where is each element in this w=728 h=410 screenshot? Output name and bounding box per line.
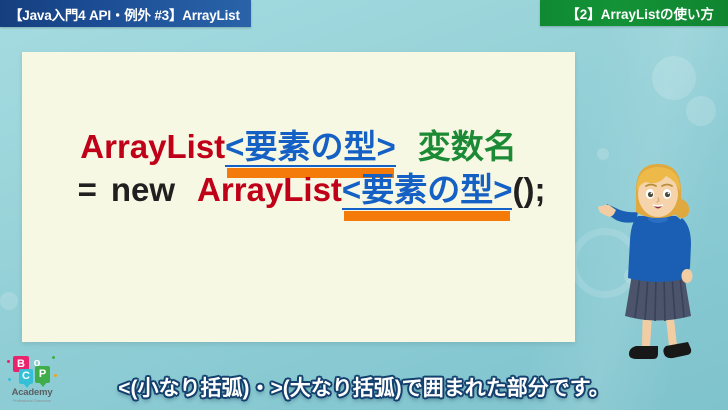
- subtitle-caption: <(小なり括弧)・>(大なり括弧)で囲まれた部分です。: [0, 372, 728, 402]
- token-generic-type-text: <要素の型>: [342, 171, 513, 208]
- bokeh-circle: [0, 292, 18, 310]
- series-title-badge: 【Java入門4 API・例外 #3】ArrayList: [0, 0, 251, 27]
- token-variable-name: 変数名: [418, 128, 517, 165]
- token-generic-type: <要素の型>: [342, 169, 513, 212]
- logo-letter-p: P: [35, 366, 50, 383]
- brand-logo: B o C P Academy Professional Classroom: [6, 352, 58, 404]
- chapter-badge: 【2】ArrayListの使い方: [540, 0, 728, 26]
- token-generic-type: <要素の型>: [225, 126, 396, 169]
- logo-wordmark: Academy: [6, 387, 58, 398]
- token-class-name: ArrayList: [80, 128, 225, 165]
- code-line-1: ArrayList<要素の型>変数名: [22, 126, 575, 169]
- bokeh-circle: [597, 148, 609, 160]
- token-generic-type-text: <要素の型>: [225, 128, 396, 165]
- bokeh-circle: [686, 96, 716, 126]
- series-title-text: 【Java入門4 API・例外 #3】ArrayList: [9, 4, 240, 24]
- code-sample: ArrayList<要素の型>変数名 =newArrayList<要素の型>()…: [22, 126, 575, 212]
- logo-blocks: B o C P: [10, 356, 54, 386]
- presenter-character-illustration: [598, 160, 716, 376]
- logo-letter-c: C: [19, 369, 33, 384]
- presenter-character: [598, 160, 716, 376]
- bokeh-circle: [652, 56, 696, 100]
- subtitle-caption-text: <(小なり括弧)・>(大なり括弧)で囲まれた部分です。: [118, 377, 609, 400]
- slide-canvas: 【Java入門4 API・例外 #3】ArrayList 【2】ArrayLis…: [0, 0, 728, 410]
- content-panel: ArrayList<要素の型>変数名 =newArrayList<要素の型>()…: [22, 52, 575, 342]
- logo-spark: [54, 374, 57, 377]
- token-parens: ();: [512, 171, 545, 208]
- code-line-2: =newArrayList<要素の型>();: [22, 169, 575, 212]
- chapter-badge-text: 【2】ArrayListの使い方: [566, 3, 714, 23]
- orange-underline-2: [344, 211, 511, 221]
- logo-tagline: Professional Classroom: [6, 399, 58, 403]
- token-class-name: ArrayList: [197, 171, 342, 208]
- token-equals: =: [78, 171, 97, 208]
- token-keyword-new: new: [111, 171, 175, 208]
